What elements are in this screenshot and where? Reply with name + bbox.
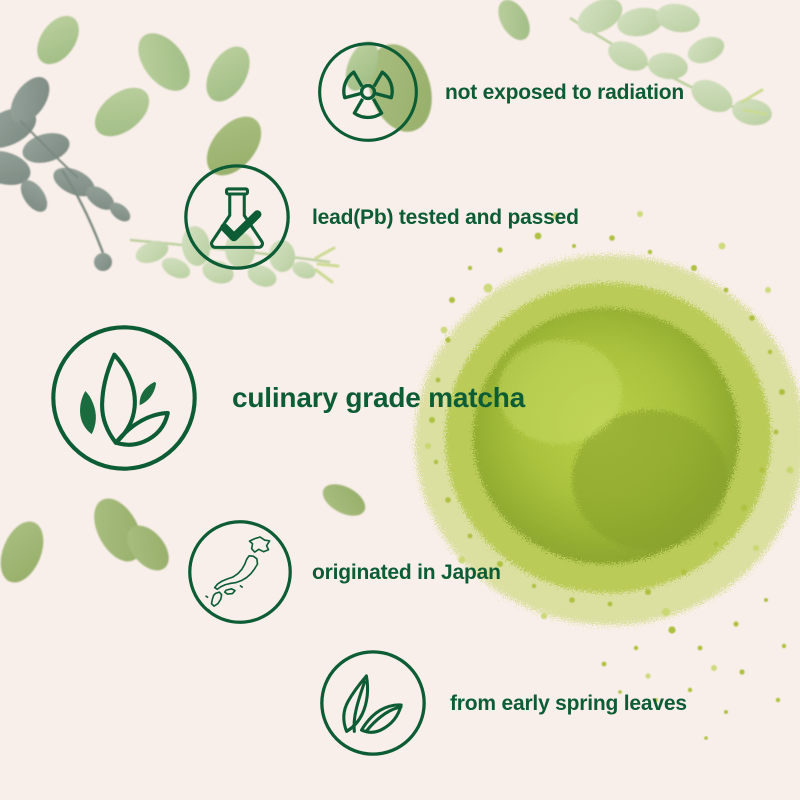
feature-label-lead-tested: lead(Pb) tested and passed [312,207,579,228]
feature-item-origin-japan[interactable]: originated in Japan [186,518,501,626]
japan-map-icon [186,518,294,626]
feature-label-radiation: not exposed to radiation [445,82,684,103]
feature-label-spring-leaves: from early spring leaves [450,693,687,714]
feature-label-origin-japan: originated in Japan [312,562,501,583]
feature-list: not exposed to radiation lead(Pb) teste [0,0,800,800]
two-leaves-icon [318,648,428,758]
product-feature-infographic: not exposed to radiation lead(Pb) teste [0,0,800,800]
flask-check-icon [182,162,292,272]
feature-item-lead-tested[interactable]: lead(Pb) tested and passed [182,162,579,272]
feature-item-culinary-grade[interactable]: culinary grade matcha [48,322,525,474]
feature-item-spring-leaves[interactable]: from early spring leaves [318,648,687,758]
radiation-trefoil-icon [316,40,420,144]
feature-label-culinary-grade: culinary grade matcha [232,384,525,412]
feature-item-radiation[interactable]: not exposed to radiation [316,40,684,144]
tea-leaves-icon [48,322,200,474]
